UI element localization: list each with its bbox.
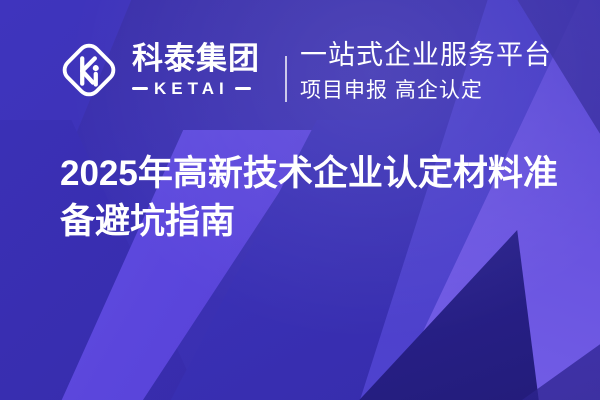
- brand-name-cn: 科泰集团: [132, 43, 260, 74]
- brand-name-en: KETAI: [154, 80, 229, 97]
- brand-name-en-row: KETAI: [132, 80, 260, 97]
- header-divider: [285, 56, 287, 102]
- tagline-sub: 项目申报 高企认定: [300, 79, 570, 103]
- tagline-main: 一站式企业服务平台: [300, 40, 570, 71]
- brand-lockup: 科泰集团 KETAI: [58, 34, 260, 106]
- ketai-diamond-k-logo-icon: [58, 39, 120, 101]
- wordmark-rule-left-icon: [132, 87, 148, 90]
- wordmark-rule-right-icon: [235, 87, 251, 90]
- page-title: 2025年高新技术企业认定材料准备避坑指南: [60, 150, 580, 247]
- bg-shape-navy-corner: [470, 270, 600, 400]
- tagline-block: 一站式企业服务平台 项目申报 高企认定: [300, 40, 570, 103]
- bg-shape-navy-triangle: [350, 230, 540, 400]
- promo-banner: 科泰集团 KETAI 一站式企业服务平台 项目申报 高企认定 2025年高新技术…: [0, 0, 600, 400]
- brand-wordmark: 科泰集团 KETAI: [132, 43, 260, 97]
